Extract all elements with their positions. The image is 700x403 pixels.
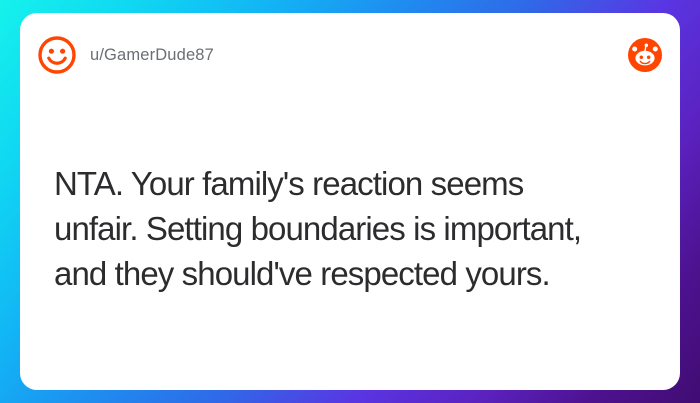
smiley-face-avatar-icon: [37, 35, 77, 75]
author-username: u/GamerDude87: [90, 46, 214, 65]
author-block[interactable]: u/GamerDude87: [37, 35, 214, 75]
screenshot-stage: u/GamerDude87 NTA. Your family's reactio…: [0, 0, 700, 403]
post-line: NTA. Your family's reaction seems: [54, 161, 654, 206]
post-line: and they should've respected yours.: [54, 251, 654, 296]
post-line: unfair. Setting boundaries is important,: [54, 206, 654, 251]
reddit-snoo-logo-icon[interactable]: [628, 38, 662, 72]
card-header: u/GamerDude87: [20, 13, 680, 109]
reddit-comment-card: u/GamerDude87 NTA. Your family's reactio…: [20, 13, 680, 390]
post-body-text: NTA. Your family's reaction seems unfair…: [54, 161, 654, 296]
